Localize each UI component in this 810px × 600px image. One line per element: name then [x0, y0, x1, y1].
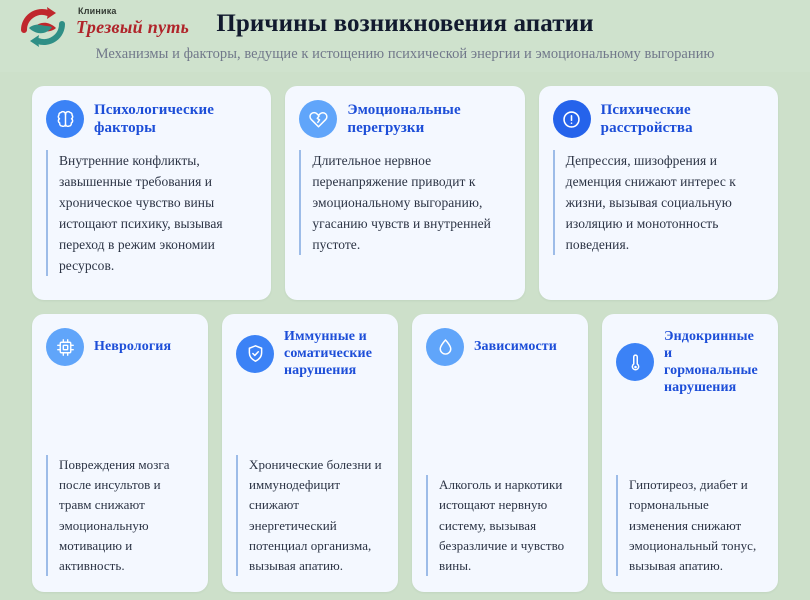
card-header: Психологические факторы — [46, 100, 257, 138]
card-psychological-factors[interactable]: Психологические факторы Внутренние конфл… — [32, 86, 271, 300]
card-title: Эндокринные и гормональные нарушения — [664, 328, 764, 396]
card-neurology[interactable]: Неврология Повреждения мозга после инсул… — [32, 314, 208, 592]
broken-heart-icon — [299, 100, 337, 138]
shield-check-icon — [236, 335, 274, 373]
thermometer-icon — [616, 343, 654, 381]
card-body: Гипотиреоз, диабет и гормональные измене… — [616, 475, 764, 576]
card-body: Алкоголь и наркотики истощают нервную си… — [426, 475, 574, 576]
card-header: Иммунные и соматические нарушения — [236, 328, 384, 379]
cards-row-bottom: Неврология Повреждения мозга после инсул… — [32, 314, 778, 592]
card-header: Зависимости — [426, 328, 574, 366]
cpu-chip-icon — [46, 328, 84, 366]
card-immune-somatic[interactable]: Иммунные и соматические нарушения Хронич… — [222, 314, 398, 592]
card-title: Иммунные и соматические нарушения — [284, 328, 384, 379]
card-addictions[interactable]: Зависимости Алкоголь и наркотики истощаю… — [412, 314, 588, 592]
card-header: Неврология — [46, 328, 194, 366]
card-body: Длительное нервное перенапряжение привод… — [299, 150, 510, 255]
card-title: Зависимости — [474, 338, 557, 355]
card-title: Неврология — [94, 338, 171, 355]
brain-icon — [46, 100, 84, 138]
hands-circle-logo-icon — [14, 4, 72, 50]
header: Клиника Трезвый путь Причины возникновен… — [0, 0, 810, 72]
cards-row-top: Психологические факторы Внутренние конфл… — [32, 86, 778, 300]
card-body: Повреждения мозга после инсультов и трав… — [46, 455, 194, 576]
cards-board: Психологические факторы Внутренние конфл… — [0, 72, 810, 600]
brand-block: Клиника Трезвый путь — [14, 4, 189, 50]
infographic-page: Клиника Трезвый путь Причины возникновен… — [0, 0, 810, 600]
alert-circle-icon — [553, 100, 591, 138]
card-header: Психические расстройства — [553, 100, 764, 138]
card-body: Депрессия, шизофрения и деменция снижают… — [553, 150, 764, 255]
card-header: Эмоциональные перегрузки — [299, 100, 510, 138]
brand-text: Клиника Трезвый путь — [76, 4, 189, 38]
card-title: Психологические факторы — [94, 101, 257, 138]
card-header: Эндокринные и гормональные нарушения — [616, 328, 764, 396]
brand-kicker: Клиника — [76, 7, 189, 16]
card-body: Внутренние конфликты, завышенные требова… — [46, 150, 257, 276]
brand-name: Трезвый путь — [76, 17, 189, 38]
card-title: Эмоциональные перегрузки — [347, 101, 510, 138]
card-title: Психические расстройства — [601, 101, 764, 138]
card-mental-disorders[interactable]: Психические расстройства Депрессия, шизо… — [539, 86, 778, 300]
card-endocrine-hormonal[interactable]: Эндокринные и гормональные нарушения Гип… — [602, 314, 778, 592]
card-body: Хронические болезни и иммунодефицит сниж… — [236, 455, 384, 576]
water-drop-icon — [426, 328, 464, 366]
card-emotional-overload[interactable]: Эмоциональные перегрузки Длительное нерв… — [285, 86, 524, 300]
